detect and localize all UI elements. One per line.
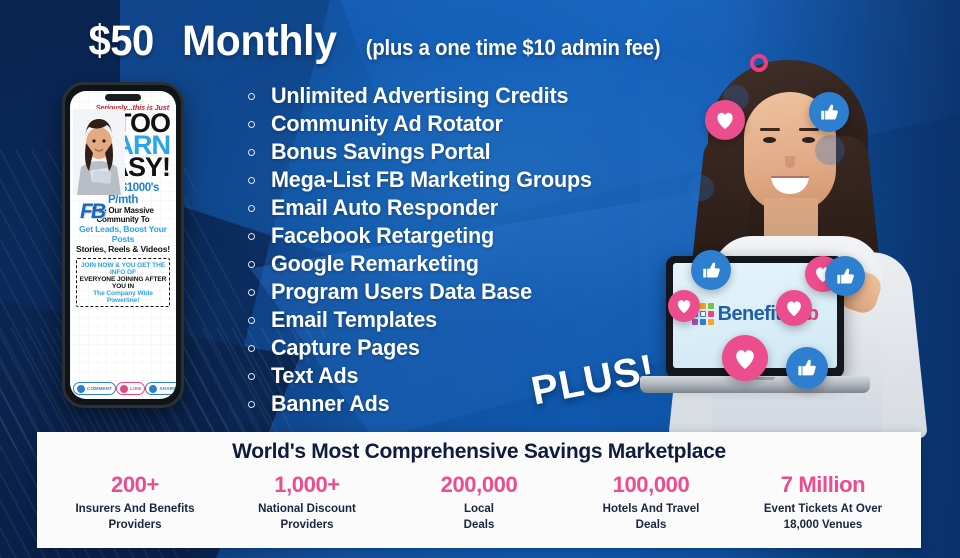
- list-item: Facebook Retargeting: [248, 222, 668, 250]
- bullet-circle-icon: [248, 233, 255, 240]
- list-item: Bonus Savings Portal: [248, 138, 668, 166]
- phone-sub-line-3: Stories, Reels & Videos!: [74, 244, 172, 254]
- stat-item: 200,000 LocalDeals: [393, 473, 565, 533]
- feature-label: Google Remarketing: [271, 251, 479, 277]
- stat-label: Insurers And BenefitsProviders: [53, 502, 217, 533]
- model-nose: [785, 156, 795, 168]
- bullet-circle-icon: [248, 121, 255, 128]
- feature-label: Facebook Retargeting: [271, 223, 494, 249]
- phone-callout-line-1: JOIN NOW & YOU GET THE INFO OF: [79, 262, 167, 276]
- stat-label: Hotels And TravelDeals: [569, 502, 733, 533]
- feature-label: Capture Pages: [271, 335, 420, 361]
- stat-number: 100,000: [569, 473, 733, 497]
- feature-label: Text Ads: [271, 363, 358, 389]
- stat-number: 1,000+: [225, 473, 389, 497]
- phone-mockup: Seriously...this is Just TOO DARN EASY! …: [62, 82, 184, 408]
- bullet-circle-icon: [248, 149, 255, 156]
- list-item: Community Ad Rotator: [248, 110, 668, 138]
- bullet-circle-icon: [248, 93, 255, 100]
- fb-logo-icon: FB: [80, 199, 126, 225]
- phone-like-button[interactable]: LIKE: [116, 382, 145, 395]
- heart-reaction-icon: [776, 290, 812, 326]
- feature-label: Bonus Savings Portal: [271, 139, 490, 165]
- phone-action-bar: COMMENT LIKE SHARE: [70, 382, 176, 395]
- promo-banner: $50 Monthly (plus a one time $10 admin f…: [0, 0, 960, 558]
- list-item: Email Auto Responder: [248, 194, 668, 222]
- comment-icon: [77, 385, 85, 393]
- bullet-circle-icon: [248, 373, 255, 380]
- bullet-circle-icon: [248, 345, 255, 352]
- phone-action-label: SHARE: [159, 386, 176, 391]
- phone-screen: Seriously...this is Just TOO DARN EASY! …: [70, 91, 176, 399]
- thumbs-up-reaction-icon: [786, 347, 828, 389]
- phone-callout-line-3: The Company Wide Powerline!: [79, 290, 167, 304]
- stats-title: World's Most Comprehensive Savings Marke…: [37, 432, 921, 464]
- feature-label: Banner Ads: [271, 391, 390, 417]
- stat-number: 200+: [53, 473, 217, 497]
- feature-label: Email Templates: [271, 307, 437, 333]
- phone-callout-line-2: EVERYONE JOINING AFTER YOU IN: [79, 276, 167, 290]
- bullet-circle-icon: [248, 177, 255, 184]
- phone-comment-button[interactable]: COMMENT: [73, 382, 116, 395]
- stat-item: 7 Million Event Tickets At Over18,000 Ve…: [737, 473, 909, 533]
- headline-note: (plus a one time $10 admin fee): [366, 35, 661, 61]
- stat-number: 200,000: [397, 473, 561, 497]
- feature-label: Mega-List FB Marketing Groups: [271, 167, 592, 193]
- heart-reaction-icon: [668, 290, 700, 322]
- phone-sub-line-2: Get Leads, Boost Your Posts: [74, 224, 172, 244]
- model-eye-right: [802, 137, 815, 143]
- bullet-circle-icon: [248, 261, 255, 268]
- feature-label: Community Ad Rotator: [271, 111, 503, 137]
- bullet-circle-icon: [248, 401, 255, 408]
- thumbs-up-reaction-icon: [691, 250, 731, 290]
- bullet-circle-icon: [248, 205, 255, 212]
- model-brow-right: [799, 128, 819, 131]
- phone-callout-box: JOIN NOW & YOU GET THE INFO OF EVERYONE …: [76, 258, 170, 307]
- stat-label: LocalDeals: [397, 502, 561, 533]
- list-item: Google Remarketing: [248, 250, 668, 278]
- headline: $50 Monthly (plus a one time $10 admin f…: [86, 17, 673, 66]
- phone-share-button[interactable]: SHARE: [145, 382, 176, 395]
- thumbs-up-icon-ghost: [815, 135, 845, 165]
- phone-notch: [105, 94, 141, 101]
- heart-outline-icon: [750, 54, 768, 72]
- bullet-circle-icon: [248, 317, 255, 324]
- model-smile: [771, 176, 809, 194]
- benefithub-word-first: Benefit: [718, 303, 782, 325]
- heart-reaction-icon: [722, 335, 768, 381]
- stat-label: Event Tickets At Over18,000 Venues: [741, 502, 905, 533]
- phone-action-label: LIKE: [130, 386, 141, 391]
- thumbs-up-reaction-icon: [825, 256, 865, 296]
- headline-period: Monthly: [182, 17, 337, 66]
- list-item: Unlimited Advertising Credits: [248, 82, 668, 110]
- list-item: Program Users Data Base: [248, 278, 668, 306]
- headline-price: $50: [88, 17, 153, 66]
- stat-item: 1,000+ National DiscountProviders: [221, 473, 393, 533]
- thumbs-up-icon-ghost: [688, 175, 714, 201]
- stat-number: 7 Million: [741, 473, 905, 497]
- phone-model-photo: [73, 109, 125, 195]
- list-item: Mega-List FB Marketing Groups: [248, 166, 668, 194]
- feature-label: Email Auto Responder: [271, 195, 498, 221]
- list-item: Email Templates: [248, 306, 668, 334]
- heart-reaction-icon: [705, 100, 745, 140]
- feature-label: Unlimited Advertising Credits: [271, 83, 568, 109]
- model-brow-left: [760, 128, 780, 131]
- thumbs-up-reaction-icon: [809, 92, 849, 132]
- stat-item: 100,000 Hotels And TravelDeals: [565, 473, 737, 533]
- stat-label: National DiscountProviders: [225, 502, 389, 533]
- feature-label: Program Users Data Base: [271, 279, 532, 305]
- stat-item: 200+ Insurers And BenefitsProviders: [49, 473, 221, 533]
- phone-action-label: COMMENT: [87, 386, 112, 391]
- share-icon: [149, 385, 157, 393]
- bullet-circle-icon: [248, 289, 255, 296]
- model-eye-left: [763, 137, 776, 143]
- stats-row: 200+ Insurers And BenefitsProviders 1,00…: [37, 464, 921, 533]
- heart-icon: [120, 385, 128, 393]
- stats-panel: World's Most Comprehensive Savings Marke…: [37, 432, 921, 548]
